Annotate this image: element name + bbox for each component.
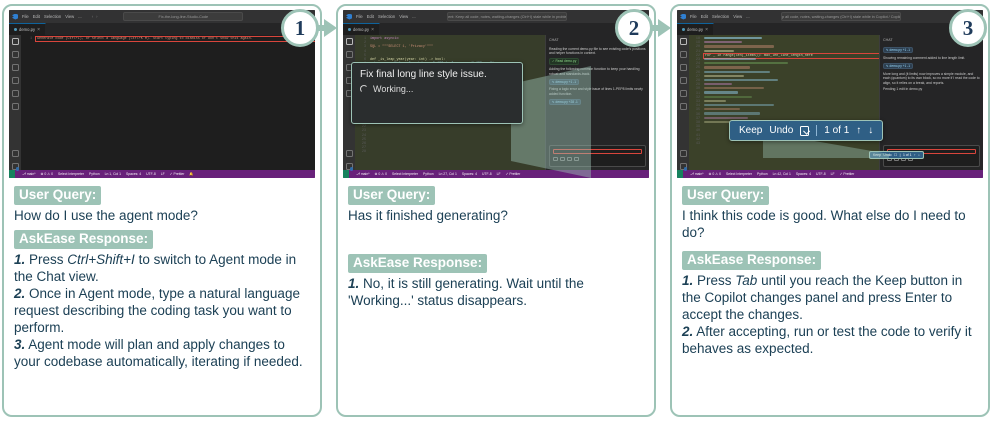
- menu-selection[interactable]: Selection: [378, 14, 395, 19]
- card-2: User Query: Has it finished generating? …: [338, 178, 654, 315]
- step-badge-1: 1: [281, 9, 319, 47]
- code-content[interactable]: Generate code (Ctrl+I), or select a lang…: [34, 35, 315, 170]
- tab-label: demo.py: [353, 27, 369, 32]
- menu-view[interactable]: View: [65, 14, 74, 19]
- status-interpreter[interactable]: Select Interpreter: [392, 172, 418, 176]
- chat-chip[interactable]: ✎ demo.py +1 -1: [883, 63, 913, 69]
- chat-message: Reading the current demo.py file to see …: [549, 47, 646, 56]
- response-item: 2. After accepting, run or test the code…: [682, 323, 978, 357]
- status-bell-icon[interactable]: 🔔: [189, 172, 193, 176]
- vscode-titlebar: File Edit Selection View ... agent: Keep…: [677, 10, 983, 23]
- loading-spinner-icon: [360, 85, 368, 93]
- step-panel-1: File Edit Selection View ... ‹ › Fix-the…: [2, 4, 322, 417]
- status-eol[interactable]: LF: [497, 172, 501, 176]
- status-cursor[interactable]: Ln 27, Col 1: [439, 172, 457, 176]
- line-number-gutter: 18192021222324 25262728293031 3233343536…: [689, 35, 702, 170]
- status-spaces[interactable]: Spaces: 4: [796, 172, 811, 176]
- menu-file[interactable]: File: [690, 14, 697, 19]
- response-list: 1. Press Tab until you reach the Keep bu…: [682, 272, 978, 357]
- user-query-text: I think this code is good. What else do …: [682, 207, 978, 241]
- status-branch[interactable]: ⎇ main*: [690, 172, 704, 176]
- source-keep-toolbar[interactable]: Keep Undo ☐ | 1 of 1 ↑ ↓: [869, 151, 924, 159]
- status-problems[interactable]: ⊗ 0 ⚠ 0: [41, 172, 53, 176]
- chat-chip[interactable]: ✎ demo.py +28 -1: [549, 99, 581, 105]
- status-problems[interactable]: ⊗ 0 ⚠ 0: [709, 172, 721, 176]
- command-center-search[interactable]: Fix-the-long-line-Studio-Code: [123, 12, 243, 21]
- askease-response-tag: AskEase Response:: [14, 230, 153, 249]
- close-icon[interactable]: ×: [371, 27, 374, 33]
- response-list: 1. No, it is still generating. Wait unti…: [348, 275, 644, 309]
- remote-indicator[interactable]: [9, 170, 15, 178]
- status-cursor[interactable]: Ln 42, Col 1: [773, 172, 791, 176]
- menu-view[interactable]: View: [733, 14, 742, 19]
- change-counter: 1 of 1: [824, 125, 849, 136]
- step-badge-3: 3: [949, 9, 987, 47]
- undo-label-small[interactable]: Undo: [883, 153, 891, 157]
- status-problems[interactable]: ⊗ 0 ⚠ 0: [375, 172, 387, 176]
- menu-more[interactable]: ...: [746, 14, 750, 19]
- editor-tab-demo-py[interactable]: demo.py ×: [677, 23, 714, 35]
- screenshot-2: File Edit Selection View ... agent: Keep…: [343, 10, 649, 178]
- line-number-gutter: 1: [21, 35, 34, 170]
- response-item: 2. Once in Agent mode, type a natural la…: [14, 285, 310, 336]
- status-cursor[interactable]: Ln 1, Col 1: [105, 172, 121, 176]
- magnified-keep-toolbar[interactable]: Keep Undo 1 of 1 ↑ ↓: [729, 120, 883, 141]
- status-bar[interactable]: ⎇ main* ⊗ 0 ⚠ 0 Select Interpreter Pytho…: [343, 170, 649, 178]
- status-bar[interactable]: ⎇ main* ⊗ 0 ⚠ 0 Select Interpreter Pytho…: [677, 170, 983, 178]
- keep-label-small[interactable]: Keep: [873, 153, 881, 157]
- editor-tabbar: demo.py ×: [9, 23, 315, 35]
- code-editor[interactable]: 18192021222324 25262728293031 3233343536…: [689, 35, 879, 170]
- step-panel-2: File Edit Selection View ... agent: Keep…: [336, 4, 656, 417]
- status-encoding[interactable]: UTF-8: [816, 172, 826, 176]
- status-eol[interactable]: LF: [161, 172, 165, 176]
- walkthrough-figure: File Edit Selection View ... ‹ › Fix-the…: [0, 0, 996, 421]
- undo-button[interactable]: Undo: [769, 125, 793, 136]
- status-language[interactable]: Python: [89, 172, 100, 176]
- command-center-search[interactable]: agent: Keep all code, notes, waiting-cha…: [447, 12, 567, 21]
- python-file-icon: [682, 28, 685, 31]
- menu-more[interactable]: ...: [78, 14, 82, 19]
- response-item: 1. No, it is still generating. Wait unti…: [348, 275, 644, 309]
- status-eol[interactable]: LF: [831, 172, 835, 176]
- attach-context-icon[interactable]: [553, 157, 558, 161]
- chat-messages: ✎ demo.py +1 -1 Showing remaining commen…: [880, 45, 983, 143]
- open-diff-icon[interactable]: [800, 126, 809, 136]
- agent-request-text: Fix final long line style issue.: [352, 63, 522, 82]
- account-icon[interactable]: [12, 150, 19, 157]
- status-spaces[interactable]: Spaces: 4: [126, 172, 141, 176]
- tab-label: demo.py: [687, 27, 703, 32]
- copilot-chat-panel[interactable]: CHAT ✎ demo.py +1 -1 Showing remaining c…: [879, 35, 983, 170]
- close-icon[interactable]: ×: [705, 27, 708, 33]
- source-control-icon[interactable]: [680, 64, 687, 71]
- chat-input-field[interactable]: [553, 149, 642, 154]
- agent-status: Working...: [352, 82, 522, 101]
- chat-chip[interactable]: ✓ Read demo.py: [549, 58, 579, 64]
- run-debug-icon[interactable]: [680, 77, 687, 84]
- step-badge-2: 2: [615, 9, 653, 47]
- search-icon[interactable]: [12, 51, 19, 58]
- menu-selection[interactable]: Selection: [712, 14, 729, 19]
- open-diff-icon-small[interactable]: ☐: [894, 153, 897, 157]
- python-file-icon: [14, 28, 17, 31]
- remote-indicator[interactable]: [677, 170, 683, 178]
- status-prettier[interactable]: ✓ Prettier: [170, 172, 185, 176]
- extensions-icon[interactable]: [12, 90, 19, 97]
- vscode-logo-icon: [346, 14, 352, 20]
- user-query-tag: User Query:: [14, 186, 101, 205]
- status-language[interactable]: Python: [757, 172, 768, 176]
- editor-tabbar: demo.py ×: [677, 23, 983, 35]
- vscode-titlebar: File Edit Selection View ... agent: Keep…: [343, 10, 649, 23]
- chat-pending-text: Pending 1 edit in demo.py: [883, 87, 980, 91]
- editor-tab-demo-py[interactable]: demo.py ×: [9, 23, 46, 35]
- card-1: User Query: How do I use the agent mode?…: [4, 178, 320, 376]
- user-query-tag: User Query:: [682, 186, 769, 205]
- prev-icon-small[interactable]: ↑: [914, 153, 916, 157]
- account-icon[interactable]: [346, 150, 353, 157]
- source-control-icon[interactable]: [12, 64, 19, 71]
- screenshot-1: File Edit Selection View ... ‹ › Fix-the…: [9, 10, 315, 178]
- chat-messages: Reading the current demo.py file to see …: [546, 45, 649, 143]
- code-content[interactable]: for _ in range(len(_items)): max_len_lin…: [702, 35, 879, 170]
- vscode-logo-icon: [12, 14, 18, 20]
- status-branch[interactable]: ⎇ main*: [356, 172, 370, 176]
- chat-message: Fixing a logic error and style issue of …: [549, 87, 646, 96]
- copilot-chat-panel[interactable]: CHAT + \u21ba Reading the current demo.p…: [545, 35, 649, 170]
- model-picker-icon[interactable]: [567, 157, 572, 161]
- explorer-icon[interactable]: [346, 38, 353, 45]
- status-branch[interactable]: ⎇ main*: [22, 172, 36, 176]
- extensions-icon[interactable]: [680, 90, 687, 97]
- run-debug-icon[interactable]: [12, 77, 19, 84]
- menu-edit[interactable]: Edit: [33, 14, 40, 19]
- chat-chip[interactable]: ✎ demo.py +1 -1: [883, 47, 913, 53]
- search-icon[interactable]: [680, 51, 687, 58]
- code-editor[interactable]: 1 Generate code (Ctrl+I), or select a la…: [21, 35, 315, 170]
- status-encoding[interactable]: UTF-8: [146, 172, 156, 176]
- askease-response-tag: AskEase Response:: [348, 254, 487, 273]
- tab-label: demo.py: [19, 27, 35, 32]
- user-query-tag: User Query:: [348, 186, 435, 205]
- python-file-icon: [348, 28, 351, 31]
- askease-response-tag: AskEase Response:: [682, 251, 821, 270]
- menu-file[interactable]: File: [356, 14, 363, 19]
- mode-picker-icon[interactable]: [560, 157, 565, 161]
- testing-icon[interactable]: [680, 103, 687, 110]
- card-3: User Query: I think this code is good. W…: [672, 178, 988, 363]
- magnified-callout-2: Fix final long line style issue. Working…: [351, 62, 523, 124]
- testing-icon[interactable]: [12, 103, 19, 110]
- response-item: 3. Agent mode will plan and apply change…: [14, 336, 310, 370]
- response-item: 1. Press Tab until you reach the Keep bu…: [682, 272, 978, 323]
- step-panel-3: File Edit Selection View ... agent: Keep…: [670, 4, 990, 417]
- send-icon[interactable]: [574, 157, 579, 161]
- chat-input-box[interactable]: [549, 145, 646, 167]
- activity-bar[interactable]: [9, 35, 21, 170]
- explorer-icon[interactable]: [12, 38, 19, 45]
- chat-message: Adding the following common function to …: [549, 67, 646, 76]
- status-language[interactable]: Python: [423, 172, 434, 176]
- editor-tab-demo-py[interactable]: demo.py ×: [343, 23, 380, 35]
- menu-file[interactable]: File: [22, 14, 29, 19]
- vscode-titlebar: File Edit Selection View ... ‹ › Fix-the…: [9, 10, 315, 23]
- activity-bar[interactable]: [677, 35, 689, 170]
- chat-chip[interactable]: ✎ demo.py +1 -1: [549, 79, 579, 85]
- previous-change-icon[interactable]: ↑: [856, 125, 861, 136]
- close-icon[interactable]: ×: [37, 27, 40, 33]
- status-interpreter[interactable]: Select Interpreter: [726, 172, 752, 176]
- screenshot-3: File Edit Selection View ... agent: Keep…: [677, 10, 983, 178]
- status-interpreter[interactable]: Select Interpreter: [58, 172, 84, 176]
- command-center-search[interactable]: agent: Keep all code, notes, waiting-cha…: [781, 12, 901, 21]
- explorer-icon[interactable]: [680, 38, 687, 45]
- divider: [816, 125, 817, 136]
- chat-title: CHAT: [549, 38, 559, 42]
- settings-gear-icon[interactable]: [680, 163, 687, 170]
- menu-more[interactable]: ...: [412, 14, 416, 19]
- editor-tabbar: demo.py ×: [343, 23, 649, 35]
- status-prettier[interactable]: ✓ Prettier: [506, 172, 521, 176]
- nav-forward-icon[interactable]: ›: [96, 14, 97, 19]
- counter-small: 1 of 1: [903, 153, 911, 157]
- vscode-logo-icon: [680, 14, 686, 20]
- next-change-icon[interactable]: ↓: [868, 125, 873, 136]
- user-query-text: How do I use the agent mode?: [14, 207, 310, 224]
- menu-view[interactable]: View: [399, 14, 408, 19]
- remote-indicator[interactable]: [343, 170, 349, 178]
- chat-input-toolbar[interactable]: [550, 157, 645, 161]
- chat-message: More long and (it limits) now improves a…: [883, 72, 980, 85]
- chat-title: CHAT: [883, 38, 893, 42]
- nav-back-icon[interactable]: ‹: [92, 14, 93, 19]
- keep-button[interactable]: Keep: [739, 125, 762, 136]
- agent-status-text: Working...: [373, 84, 413, 94]
- menu-edit[interactable]: Edit: [367, 14, 374, 19]
- status-prettier[interactable]: ✓ Prettier: [840, 172, 855, 176]
- inline-chat-hint-line[interactable]: Generate code (Ctrl+I), or select a lang…: [36, 37, 315, 41]
- response-list: 1. Press Ctrl+Shift+I to switch to Agent…: [14, 251, 310, 370]
- account-icon[interactable]: [680, 150, 687, 157]
- status-bar[interactable]: ⎇ main* ⊗ 0 ⚠ 0 Select Interpreter Pytho…: [9, 170, 315, 178]
- next-icon-small[interactable]: ↓: [918, 153, 920, 157]
- settings-gear-icon[interactable]: [12, 163, 19, 170]
- user-query-text: Has it finished generating?: [348, 207, 644, 224]
- settings-gear-icon[interactable]: [346, 163, 353, 170]
- status-encoding[interactable]: UTF-8: [482, 172, 492, 176]
- response-item: 1. Press Ctrl+Shift+I to switch to Agent…: [14, 251, 310, 285]
- menu-selection[interactable]: Selection: [44, 14, 61, 19]
- status-spaces[interactable]: Spaces: 4: [462, 172, 477, 176]
- menu-edit[interactable]: Edit: [701, 14, 708, 19]
- search-icon[interactable]: [346, 51, 353, 58]
- chat-message: Showing remaining comment added to line …: [883, 56, 980, 60]
